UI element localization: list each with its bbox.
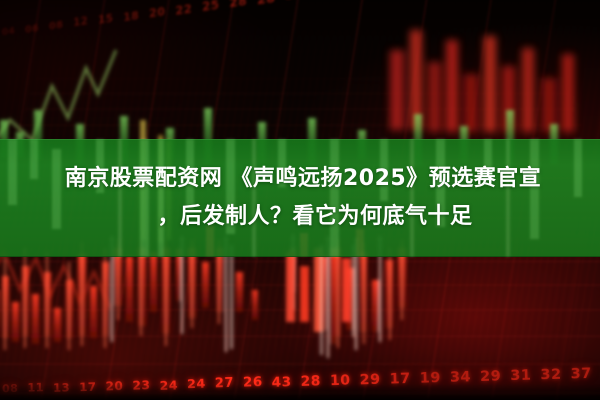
top-ticker-label: 18: [123, 9, 139, 27]
title-line-2: ，后发制人？看它为何底气十足: [0, 198, 600, 236]
top-ticker-label: 04: [2, 26, 16, 44]
top-ticker-label: 20: [149, 5, 166, 23]
top-ticker-label: 22: [175, 1, 192, 19]
axis-tick-label: 31: [510, 368, 532, 385]
axis-tick-label: 29: [480, 368, 502, 385]
stock-banner-image: 040608121518202225282831302726 081113172…: [0, 0, 600, 400]
top-ticker-label: 15: [98, 12, 114, 30]
title-text-block: 南京股票配资网 《声鸣远扬2025》预选赛官宣 ，后发制人？看它为何底气十足: [0, 160, 600, 236]
bottom-fade-overlay: [0, 384, 600, 400]
top-ticker-label: 06: [25, 23, 39, 41]
top-ticker-label: 12: [73, 16, 88, 34]
axis-tick-label: 32: [540, 367, 562, 384]
top-ticker-label: 25: [202, 0, 220, 16]
title-line-1: 南京股票配资网 《声鸣远扬2025》预选赛官宣: [0, 160, 600, 198]
title-band: 南京股票配资网 《声鸣远扬2025》预选赛官宣 ，后发制人？看它为何底气十足: [0, 139, 600, 257]
top-ticker-label: 08: [49, 20, 64, 38]
axis-tick-label: 37: [570, 366, 592, 383]
